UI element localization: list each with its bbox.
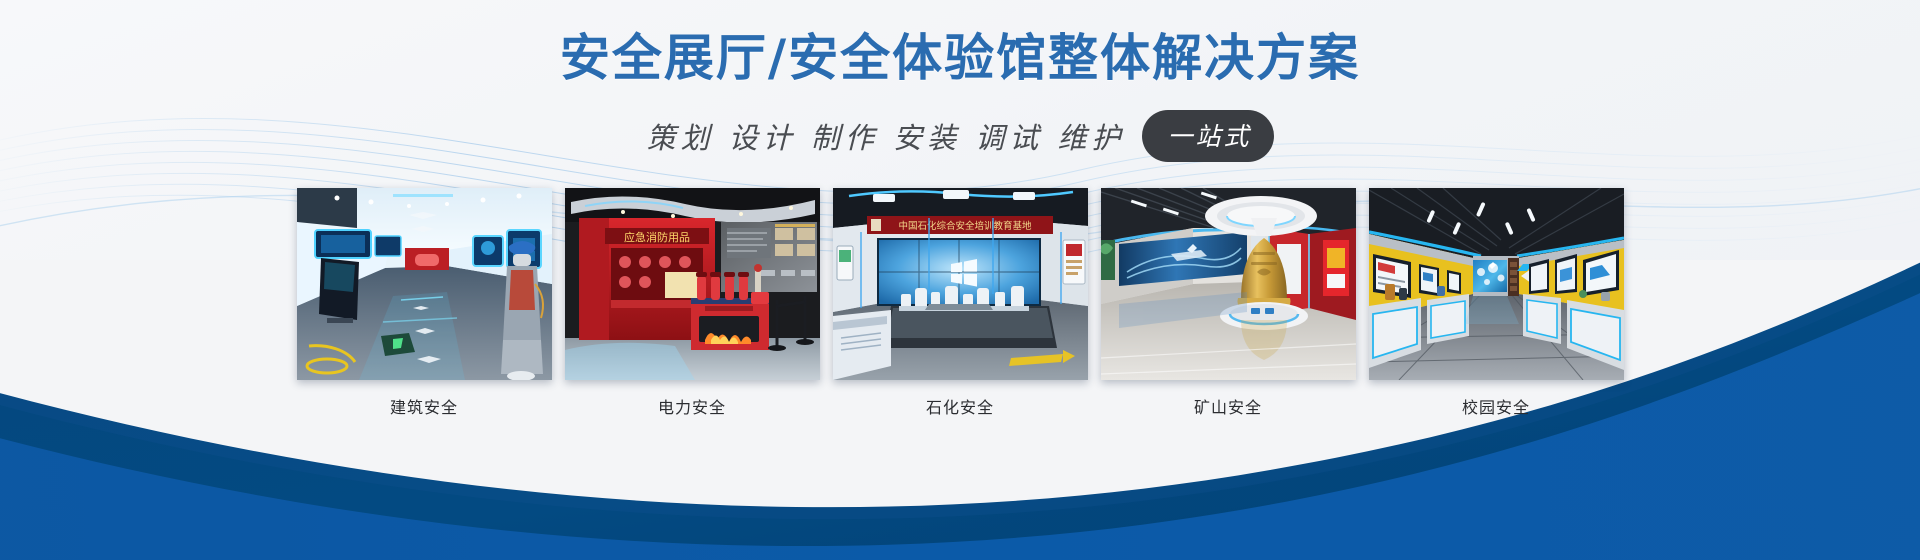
gallery-card[interactable]: 校园安全 (1369, 188, 1624, 418)
svg-text:中国石化综合安全培训教育基地: 中国石化综合安全培训教育基地 (898, 220, 1032, 232)
gallery-card-caption: 石化安全 (926, 394, 994, 418)
gallery-card-caption: 建筑安全 (390, 394, 458, 418)
gallery-card-caption: 矿山安全 (1194, 394, 1262, 418)
subtitle-services: 策划 设计 制作 安装 调试 维护 (646, 115, 1125, 157)
gallery: 建筑安全 (297, 188, 1624, 418)
thumbnail-power-safety[interactable]: 应急消防用品 (565, 188, 820, 380)
thumbnail-campus-safety[interactable] (1369, 188, 1624, 380)
banner-content: 安全展厅/安全体验馆整体解决方案 策划 设计 制作 安装 调试 维护 一站式 (0, 0, 1920, 560)
gallery-card[interactable]: 中国石化综合安全培训教育基地 (833, 188, 1088, 418)
page-title: 安全展厅/安全体验馆整体解决方案 (560, 28, 1360, 88)
gallery-card-caption: 校园安全 (1462, 394, 1530, 418)
subtitle-row: 策划 设计 制作 安装 调试 维护 一站式 (646, 110, 1273, 162)
gallery-card[interactable]: 应急消防用品 (565, 188, 820, 418)
one-stop-badge: 一站式 (1142, 110, 1274, 162)
banner-root: 安全展厅/安全体验馆整体解决方案 策划 设计 制作 安装 调试 维护 一站式 (0, 0, 1920, 560)
gallery-card[interactable]: 矿山安全 (1101, 188, 1356, 418)
thumbnail-construction-safety[interactable] (297, 188, 552, 380)
thumbnail-mining-safety[interactable] (1101, 188, 1356, 380)
svg-text:应急消防用品: 应急消防用品 (624, 230, 690, 244)
gallery-card-caption: 电力安全 (658, 394, 726, 418)
gallery-card[interactable]: 建筑安全 (297, 188, 552, 418)
thumbnail-petrochemical-safety[interactable]: 中国石化综合安全培训教育基地 (833, 188, 1088, 380)
